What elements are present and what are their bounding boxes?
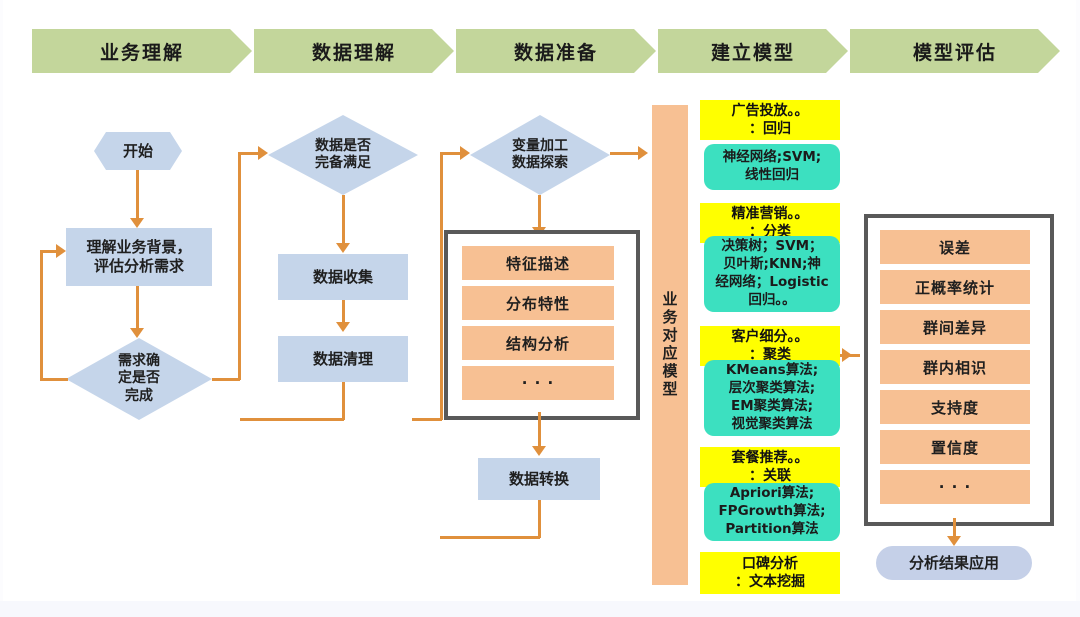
panel-exploration-items: 特征描述 分布特性 结构分析 · · · <box>444 230 640 420</box>
item-label: 分布特性 <box>506 293 570 314</box>
node-requirement-decision[interactable]: 需求确 定是否 完成 <box>66 338 212 420</box>
scenario-box-sentiment-analysis[interactable]: 口碑分析 ：文本挖掘 <box>700 552 840 594</box>
node-label: 分析结果应用 <box>909 554 999 573</box>
metric-label: 群间差异 <box>923 317 987 338</box>
node-analysis-result-application[interactable]: 分析结果应用 <box>876 546 1032 580</box>
algorithm-line1: 神经网络;SVM; <box>723 149 821 167</box>
algorithm-line1: KMeans算法; <box>726 362 818 380</box>
connector-data-to-prep-vertical <box>440 152 443 420</box>
algorithm-line2: FPGrowth算法; <box>718 503 825 521</box>
connector-data-to-prep-top <box>440 152 462 155</box>
exploration-item-more[interactable]: · · · <box>462 366 614 400</box>
scenario-line1: 套餐推荐。。 <box>732 449 809 467</box>
node-label-line1: 需求确 <box>118 353 160 371</box>
node-data-transform[interactable]: 数据转换 <box>478 458 600 500</box>
connector-feedback-vertical <box>40 250 43 380</box>
node-data-collection[interactable]: 数据收集 <box>278 254 408 300</box>
algorithm-line3: 经网络；Logistic <box>715 274 828 292</box>
scenario-box-bundle-recommendation[interactable]: 套餐推荐。。 ：关联 <box>700 447 840 487</box>
connector-clean-left <box>240 418 344 421</box>
connector-model-to-eval <box>840 354 860 357</box>
arrowhead-right <box>56 244 66 258</box>
stage-label: 模型评估 <box>913 38 997 65</box>
item-label: 结构分析 <box>506 333 570 354</box>
algorithm-line4: 视觉聚类算法 <box>732 416 813 434</box>
stage-label: 建立模型 <box>711 38 795 65</box>
exploration-item-structure-analysis[interactable]: 结构分析 <box>462 326 614 360</box>
arrowhead-down <box>130 328 144 338</box>
metric-label: 支持度 <box>931 397 979 418</box>
node-label-line2: 定是否 <box>118 370 160 388</box>
node-label: 数据转换 <box>509 470 569 489</box>
connector-clean-down <box>342 382 345 420</box>
algorithm-box-clustering[interactable]: KMeans算法; 层次聚类算法; EM聚类算法; 视觉聚类算法 <box>704 360 840 436</box>
diagram-canvas: 业务理解 数据理解 数据准备 建立模型 模型评估 开始 理解业务背景， 评估分析… <box>0 0 1080 617</box>
metric-error[interactable]: 误差 <box>880 230 1030 264</box>
stage-chevron-modeling[interactable]: 建立模型 <box>658 29 848 73</box>
node-label-line1: 理解业务背景， <box>86 238 191 257</box>
node-label-line2: 评估分析需求 <box>94 257 184 276</box>
panel-evaluation-metrics: 误差 正概率统计 群间差异 群内相识 支持度 置信度 · · · <box>864 214 1054 526</box>
arrowhead-down <box>130 218 144 228</box>
modeling-vertical-label: 业务对应模型 <box>660 291 681 399</box>
scenario-line1: 广告投放。。 <box>732 102 809 120</box>
node-label-line2: 完备满足 <box>315 155 371 173</box>
item-label: · · · <box>522 374 555 392</box>
connector-transform-left <box>440 536 540 539</box>
metric-label: · · · <box>939 478 972 496</box>
arrowhead-right <box>638 146 648 160</box>
arrowhead-down <box>947 536 961 546</box>
connector-business-to-data-top <box>238 152 260 155</box>
node-label: 开始 <box>123 142 153 161</box>
connector-understand-to-decision <box>136 286 139 332</box>
scenario-line1: 口碑分析 <box>742 555 798 573</box>
connector-transform-down <box>538 500 541 538</box>
algorithm-line3: Partition算法 <box>725 521 818 539</box>
metric-support[interactable]: 支持度 <box>880 390 1030 424</box>
scenario-line2: ：文本挖掘 <box>735 573 805 591</box>
algorithm-line4: 回归。。 <box>748 292 795 310</box>
algorithm-box-association[interactable]: Apriori算法; FPGrowth算法; Partition算法 <box>704 483 840 541</box>
node-label-line1: 变量加工 <box>512 138 568 156</box>
metric-label: 误差 <box>939 237 971 258</box>
scenario-line2: ：回归 <box>749 120 791 138</box>
node-data-cleaning[interactable]: 数据清理 <box>278 336 408 382</box>
algorithm-line2: 贝叶斯;KNN;神 <box>723 256 821 274</box>
exploration-item-feature-description[interactable]: 特征描述 <box>462 246 614 280</box>
scenario-line1: 精准营销。。 <box>732 205 809 223</box>
node-label: 变量加工 数据探索 <box>470 115 610 195</box>
algorithm-line1: 决策树；SVM； <box>721 238 822 256</box>
metric-label: 置信度 <box>931 437 979 458</box>
stage-chevron-data-understanding[interactable]: 数据理解 <box>254 29 454 73</box>
connector-prepdecision-to-panel <box>538 195 541 231</box>
canvas-right-edge <box>1076 0 1080 617</box>
algorithm-line2: 层次聚类算法; <box>729 380 815 398</box>
arrowhead-right <box>460 146 470 160</box>
node-label-line2: 数据探索 <box>512 155 568 173</box>
connector-datadecision-to-collect <box>342 195 345 247</box>
metric-label: 群内相识 <box>923 357 987 378</box>
exploration-item-distribution[interactable]: 分布特性 <box>462 286 614 320</box>
algorithm-box-classification[interactable]: 决策树；SVM； 贝叶斯;KNN;神 经网络；Logistic 回归。。 <box>704 236 840 312</box>
arrowhead-down <box>532 446 546 456</box>
node-label: 数据清理 <box>313 350 373 369</box>
metric-more[interactable]: · · · <box>880 470 1030 504</box>
stage-label: 数据准备 <box>514 38 598 65</box>
algorithm-line2: 线性回归 <box>745 167 799 185</box>
arrowhead-down <box>336 243 350 253</box>
stage-label: 数据理解 <box>312 38 396 65</box>
connector-business-to-data-vertical <box>238 152 241 380</box>
algorithm-box-regression[interactable]: 神经网络;SVM; 线性回归 <box>704 144 840 190</box>
node-variable-exploration-decision[interactable]: 变量加工 数据探索 <box>470 115 610 195</box>
connector-start-to-understand <box>136 170 139 220</box>
metric-positive-probability[interactable]: 正概率统计 <box>880 270 1030 304</box>
stage-chevron-evaluation[interactable]: 模型评估 <box>850 29 1060 73</box>
metric-inter-group-difference[interactable]: 群间差异 <box>880 310 1030 344</box>
node-data-sufficiency-decision[interactable]: 数据是否 完备满足 <box>268 115 418 195</box>
stage-chevron-data-preparation[interactable]: 数据准备 <box>456 29 656 73</box>
canvas-left-edge <box>0 0 3 617</box>
scenario-line1: 客户细分。。 <box>732 328 809 346</box>
connector-panel-to-transform <box>538 412 541 450</box>
modeling-vertical-bar: 业务对应模型 <box>652 105 688 585</box>
node-understand-business[interactable]: 理解业务背景， 评估分析需求 <box>66 228 212 286</box>
node-label: 数据收集 <box>313 268 373 287</box>
algorithm-line3: EM聚类算法; <box>731 398 813 416</box>
connector-business-to-data-bottom <box>212 378 240 381</box>
node-label: 需求确 定是否 完成 <box>66 338 212 420</box>
node-label: 数据是否 完备满足 <box>268 115 418 195</box>
node-label-line1: 数据是否 <box>315 138 371 156</box>
connector-data-to-prep-bottom <box>412 418 442 421</box>
arrowhead-right <box>258 146 268 160</box>
stage-chevron-business-understanding[interactable]: 业务理解 <box>32 29 252 73</box>
algorithm-line1: Apriori算法; <box>730 485 814 503</box>
item-label: 特征描述 <box>506 253 570 274</box>
metric-intra-group-similarity[interactable]: 群内相识 <box>880 350 1030 384</box>
connector-prep-to-model <box>610 152 640 155</box>
canvas-bottom-strip <box>0 601 1080 617</box>
connector-feedback-bottom <box>40 378 68 381</box>
node-start[interactable]: 开始 <box>94 132 182 170</box>
stage-label: 业务理解 <box>100 38 184 65</box>
scenario-box-advertising[interactable]: 广告投放。。 ：回归 <box>700 100 840 140</box>
metric-confidence[interactable]: 置信度 <box>880 430 1030 464</box>
metric-label: 正概率统计 <box>915 277 995 298</box>
node-label-line3: 完成 <box>125 388 153 406</box>
arrowhead-down <box>336 322 350 332</box>
